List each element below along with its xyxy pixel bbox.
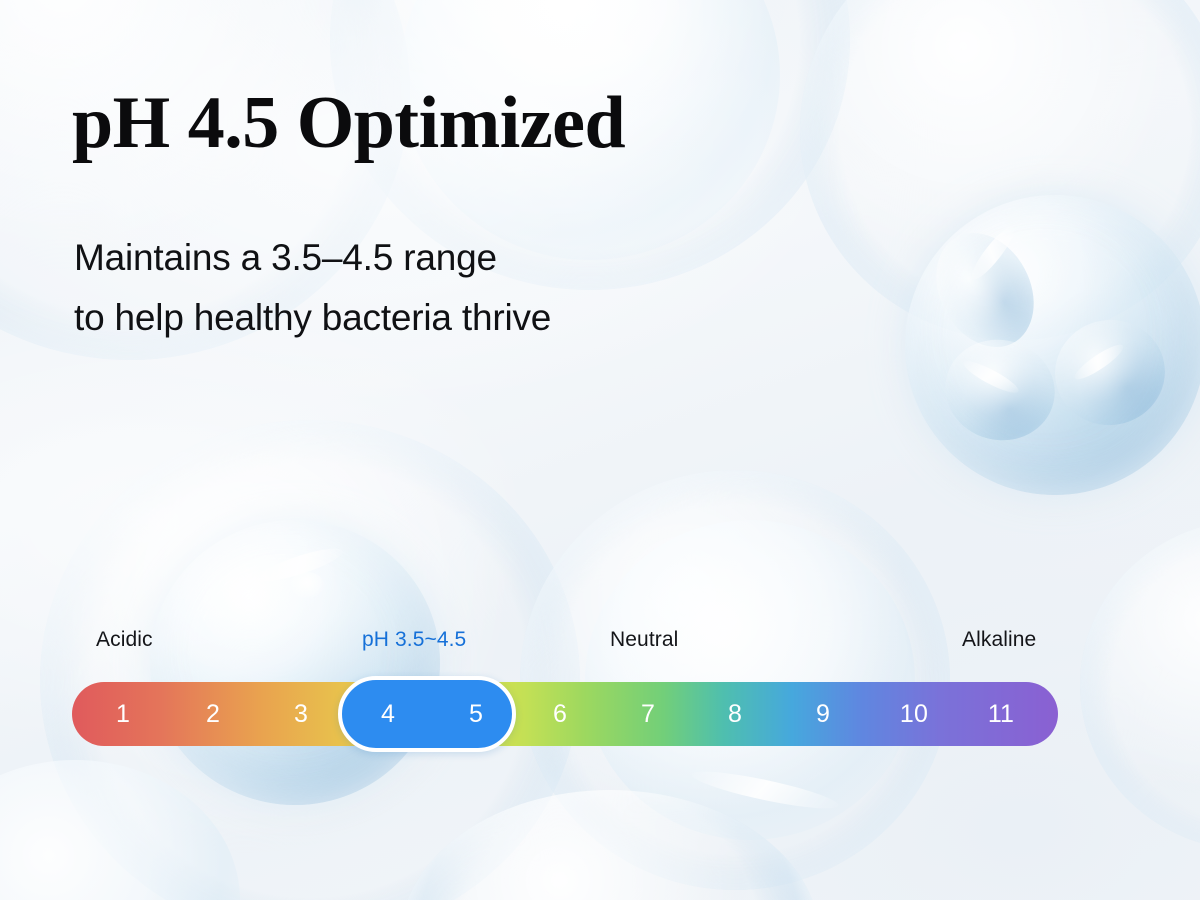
ph-infographic-panel: pH 4.5 Optimized Maintains a 3.5–4.5 ran… [0, 0, 1200, 900]
ph-tick-8: 8 [712, 682, 758, 746]
page-title: pH 4.5 Optimized [72, 86, 625, 160]
ph-tick-4: 4 [365, 676, 411, 752]
ph-scale-label-alkaline: Alkaline [962, 628, 1036, 652]
ph-scale-label-range: pH 3.5~4.5 [362, 628, 466, 652]
ph-scale-label-neutral: Neutral [610, 628, 678, 652]
page-subtitle-line1: Maintains a 3.5–4.5 range [74, 228, 551, 288]
ph-scale-label-acidic: Acidic [96, 628, 153, 652]
ph-scale: Acidic pH 3.5~4.5 Neutral Alkaline 1 2 3… [72, 620, 1058, 750]
ph-tick-6: 6 [537, 682, 583, 746]
ph-tick-9: 9 [800, 682, 846, 746]
ph-tick-7: 7 [625, 682, 671, 746]
ph-tick-3: 3 [278, 682, 324, 746]
ph-tick-2: 2 [190, 682, 236, 746]
page-subtitle-line2: to help healthy bacteria thrive [74, 288, 551, 348]
ph-tick-5: 5 [453, 676, 499, 752]
ph-scale-label-row: Acidic pH 3.5~4.5 Neutral Alkaline [72, 620, 1058, 654]
ph-tick-10: 10 [891, 682, 937, 746]
ph-tick-1: 1 [100, 682, 146, 746]
ph-tick-11: 11 [978, 682, 1024, 746]
page-subtitle: Maintains a 3.5–4.5 range to help health… [74, 228, 551, 348]
